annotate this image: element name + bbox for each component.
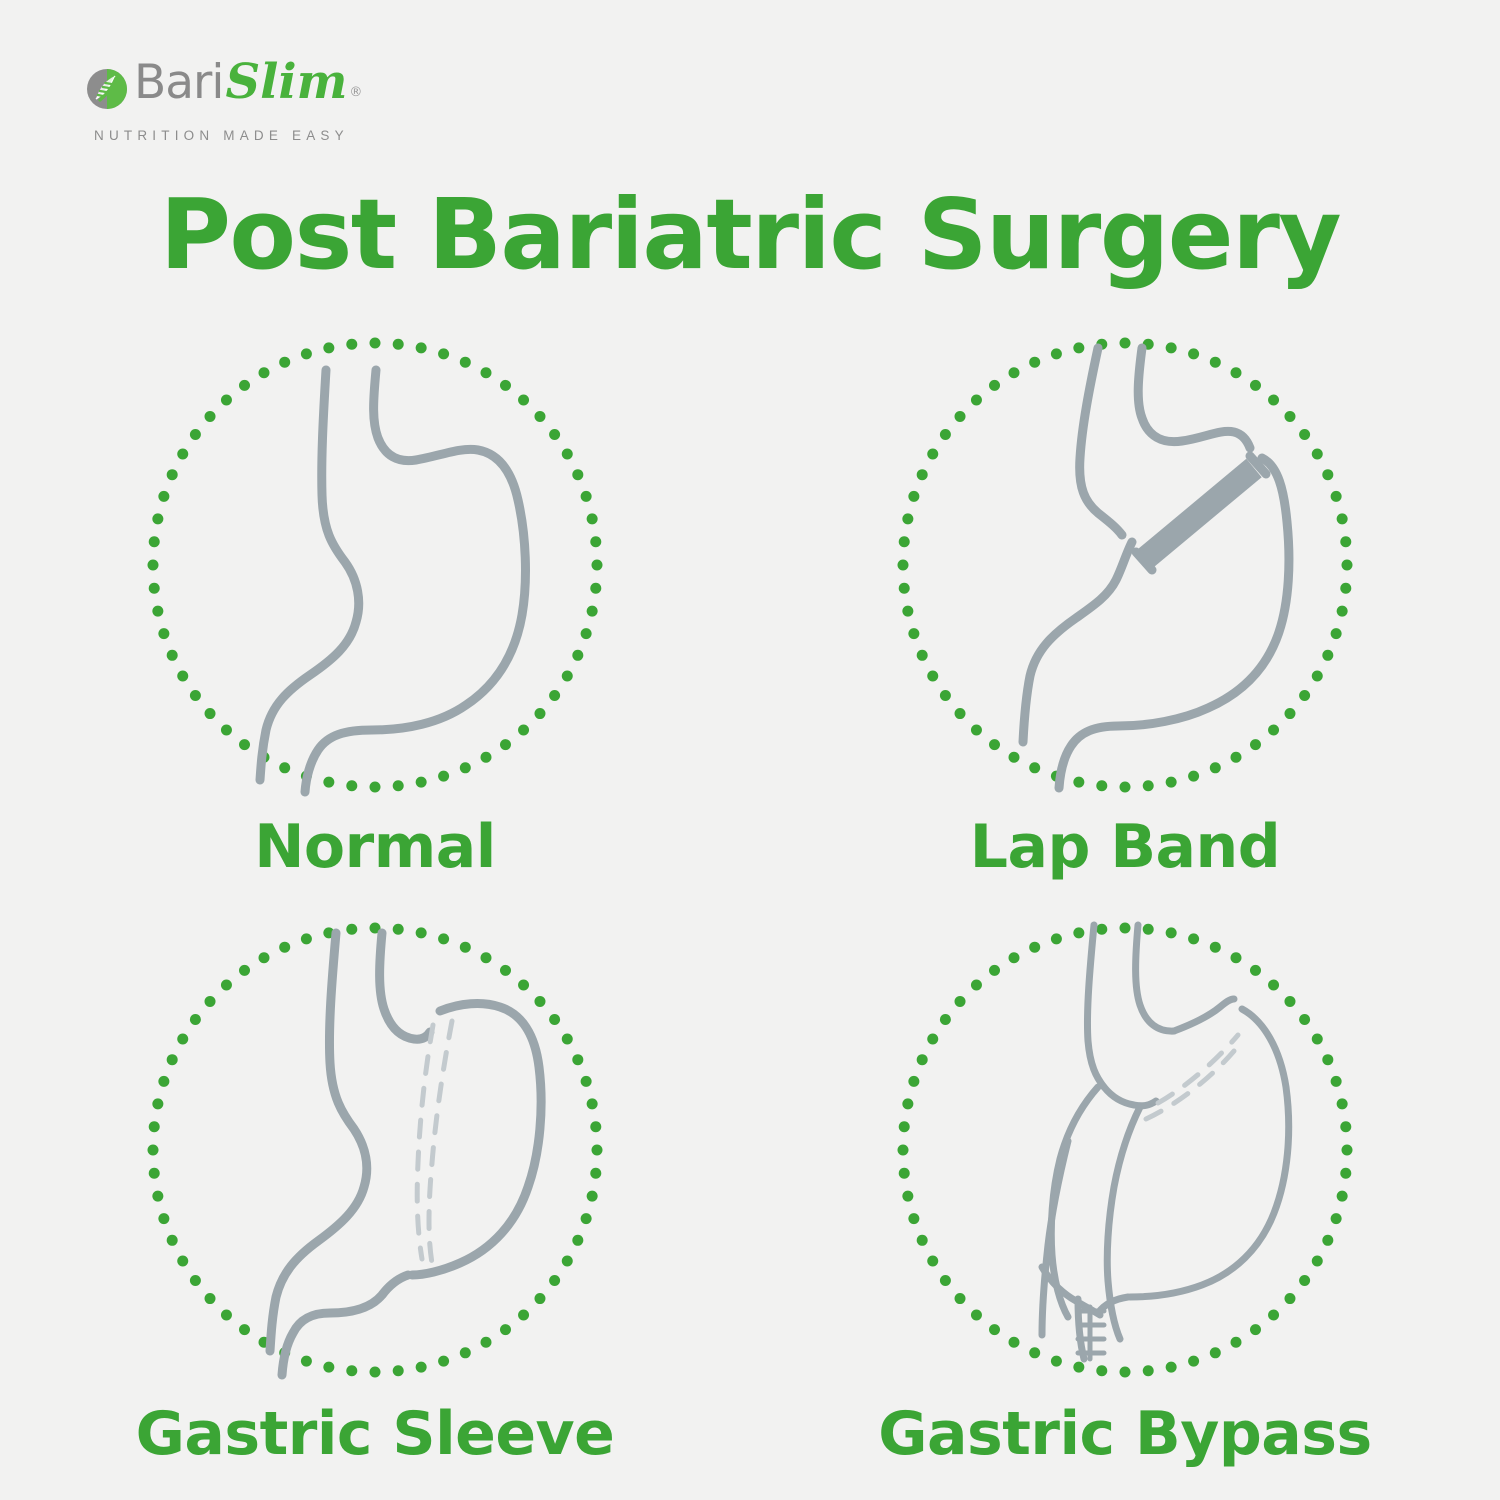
border-dot [190,1275,201,1286]
border-dot [259,952,270,963]
border-dot [1120,923,1131,934]
border-dot [1143,1365,1154,1376]
surgery-panel-grid: Normal Lap Band [0,330,1500,1500]
border-dot [908,628,919,639]
border-dot [1029,357,1040,368]
border-dot [323,1362,334,1373]
border-dot [1210,357,1221,368]
border-dot [1051,348,1062,359]
border-dot [908,491,919,502]
border-dot [587,513,598,524]
border-dot [279,942,290,953]
logo-text-slim: Slim [225,58,347,106]
border-dot [1312,1034,1323,1045]
border-dot [149,1121,160,1132]
border-dot [279,357,290,368]
border-dot [460,357,471,368]
border-dot [1284,996,1295,1007]
border-dot [205,411,216,422]
border-dot [1331,628,1342,639]
border-dot [1268,395,1279,406]
border-dot [152,513,163,524]
border-dot [346,924,357,935]
leaf-circle-icon [84,66,130,112]
border-dot [1340,583,1351,594]
gastric-bypass-stomach-figure [890,915,1360,1385]
border-dot [438,771,449,782]
border-dot [587,1191,598,1202]
border-dot [221,1309,232,1320]
border-dot [393,339,404,350]
border-dot [393,780,404,791]
border-dot [148,1145,159,1156]
border-dot [549,1275,560,1286]
border-dot [205,1293,216,1304]
border-dot [1322,650,1333,661]
border-dot [927,449,938,460]
border-dot [534,411,545,422]
border-dot [177,449,188,460]
border-dot [500,1324,511,1335]
border-dot [370,782,381,793]
border-dot [346,339,357,350]
gastric-sleeve-stomach-figure [140,915,610,1385]
border-dot [899,1168,910,1179]
border-dot [581,1076,592,1087]
border-dot [167,1054,178,1065]
border-dot [416,342,427,353]
border-dot [460,762,471,773]
border-dot [989,965,1000,976]
border-dot [1143,924,1154,935]
border-dot [1268,724,1279,735]
border-dot [177,1256,188,1267]
border-dot [416,927,427,938]
border-dot [1250,965,1261,976]
border-dot [177,671,188,682]
border-dot [898,560,909,571]
border-dot [190,690,201,701]
border-dot [1312,1256,1323,1267]
border-dot [1096,1365,1107,1376]
border-dot [149,536,160,547]
border-dot [940,690,951,701]
border-dot [971,980,982,991]
border-dot [1188,933,1199,944]
border-dot [500,739,511,750]
border-dot [393,1365,404,1376]
border-dot [1284,411,1295,422]
border-dot [989,1324,1000,1335]
border-dot [158,628,169,639]
border-dot [1009,1337,1020,1348]
border-dot [190,1014,201,1025]
border-dot [562,449,573,460]
border-dot [927,1034,938,1045]
border-dot [221,724,232,735]
border-dot [940,429,951,440]
border-dot [534,708,545,719]
panel-normal: Normal [0,330,750,915]
gastric-bypass-stomach-icon [890,915,1360,1385]
border-dot [221,980,232,991]
border-dot [518,980,529,991]
border-dot [1009,952,1020,963]
border-dot [940,1014,951,1025]
border-dot [481,1337,492,1348]
border-dot [158,491,169,502]
border-dot [1188,1356,1199,1367]
gastric-sleeve-stomach-icon [140,915,610,1385]
border-dot [239,965,250,976]
border-dot [989,739,1000,750]
border-dot [1250,739,1261,750]
border-dot [955,411,966,422]
border-dot [438,348,449,359]
border-dot [259,367,270,378]
border-dot [1322,469,1333,480]
border-dot [1322,1235,1333,1246]
border-dot [500,965,511,976]
border-dot [481,367,492,378]
logo-text-bari: Bari [134,59,223,106]
normal-stomach-icon [140,330,610,800]
border-dot [1051,1356,1062,1367]
border-dot [590,583,601,594]
border-dot [1120,782,1131,793]
border-dot [518,724,529,735]
border-dot [1166,927,1177,938]
border-dot [917,1235,928,1246]
border-dot [167,469,178,480]
border-dot [205,708,216,719]
border-dot [1096,924,1107,935]
border-dot [1073,927,1084,938]
border-dot [393,924,404,935]
border-dot [899,583,910,594]
border-dot [1166,777,1177,788]
border-dot [1312,449,1323,460]
border-dot [971,395,982,406]
border-dot [590,536,601,547]
border-dot [301,348,312,359]
border-dot [1096,780,1107,791]
border-dot [1340,1168,1351,1179]
border-dot [1342,1145,1353,1156]
border-dot [898,1145,909,1156]
lap-band-stomach-figure [890,330,1360,800]
border-dot [221,395,232,406]
border-dot [581,1213,592,1224]
border-dot [1188,771,1199,782]
border-dot [1231,952,1242,963]
border-dot [1250,380,1261,391]
border-dot [927,1256,938,1267]
border-dot [940,1275,951,1286]
border-dot [572,1054,583,1065]
border-dot [902,1191,913,1202]
border-dot [1231,1337,1242,1348]
border-dot [902,606,913,617]
border-dot [572,469,583,480]
panel-gastric-sleeve: Gastric Sleeve [0,915,750,1500]
border-dot [1120,338,1131,349]
border-dot [239,1324,250,1335]
border-dot [971,724,982,735]
border-dot [1284,708,1295,719]
border-dot [239,739,250,750]
border-dot [592,1145,603,1156]
border-dot [1231,367,1242,378]
border-dot [1337,1098,1348,1109]
border-dot [346,1365,357,1376]
border-dot [562,1034,573,1045]
border-dot [279,762,290,773]
border-dot [917,1054,928,1065]
border-dot [1322,1054,1333,1065]
border-dot [205,996,216,1007]
border-dot [549,429,560,440]
brand-logo: Bari Slim ® NUTRITION MADE EASY [84,58,504,154]
border-dot [152,1191,163,1202]
border-dot [1029,1347,1040,1358]
border-dot [1312,671,1323,682]
border-dot [572,1235,583,1246]
border-dot [899,536,910,547]
border-dot [239,380,250,391]
border-dot [955,996,966,1007]
border-dot [1250,1324,1261,1335]
border-dot [581,491,592,502]
border-dot [1143,780,1154,791]
border-dot [1284,1293,1295,1304]
border-dot [1210,942,1221,953]
border-dot [1337,513,1348,524]
border-dot [323,777,334,788]
border-dot [148,560,159,571]
border-dot [562,1256,573,1267]
border-dot [1210,1347,1221,1358]
border-dot [1029,762,1040,773]
brand-tagline: NUTRITION MADE EASY [94,128,504,143]
border-dot [190,429,201,440]
border-dot [581,628,592,639]
logo-row: Bari Slim ® [84,58,504,120]
panel-label-gastric-sleeve: Gastric Sleeve [136,1399,615,1469]
border-dot [1073,1362,1084,1373]
border-dot [1299,690,1310,701]
border-dot [989,380,1000,391]
border-dot [587,606,598,617]
border-dot [955,708,966,719]
border-dot [927,671,938,682]
border-dot [167,1235,178,1246]
border-dot [1299,429,1310,440]
border-dot [1340,536,1351,547]
registered-mark: ® [349,85,362,100]
border-dot [971,1309,982,1320]
border-dot [323,342,334,353]
border-dot [370,338,381,349]
border-dot [158,1213,169,1224]
border-dot [955,1293,966,1304]
border-dot [518,395,529,406]
border-dot [370,1367,381,1378]
border-dot [149,1168,160,1179]
panel-label-normal: Normal [254,812,496,882]
border-dot [149,583,160,594]
border-dot [1073,777,1084,788]
border-dot [152,1098,163,1109]
border-dot [481,752,492,763]
border-dot [1166,1362,1177,1373]
border-dot [534,1293,545,1304]
border-dot [152,606,163,617]
border-dot [1051,933,1062,944]
border-dot [1166,342,1177,353]
border-dot [460,942,471,953]
border-dot [587,1098,598,1109]
border-dot [1210,762,1221,773]
border-dot [1331,1213,1342,1224]
border-dot [500,380,511,391]
border-dot [562,671,573,682]
border-dot [549,690,560,701]
border-dot [592,560,603,571]
border-dot [1299,1275,1310,1286]
border-dot [1029,942,1040,953]
border-dot [1337,1191,1348,1202]
panel-lap-band: Lap Band [750,330,1500,915]
border-dot [301,1356,312,1367]
border-dot [1188,348,1199,359]
border-dot [301,933,312,944]
lap-band-stomach-icon [890,330,1360,800]
border-dot [438,933,449,944]
border-dot [460,1347,471,1358]
border-dot [590,1121,601,1132]
border-dot [438,1356,449,1367]
border-dot [518,1309,529,1320]
border-dot [590,1168,601,1179]
border-dot [549,1014,560,1025]
border-dot [1231,752,1242,763]
border-dot [534,996,545,1007]
border-dot [158,1076,169,1087]
normal-stomach-figure [140,330,610,800]
border-dot [416,1362,427,1373]
border-dot [1299,1014,1310,1025]
border-dot [1331,1076,1342,1087]
border-dot [346,780,357,791]
panel-gastric-bypass: Gastric Bypass [750,915,1500,1500]
border-dot [902,1098,913,1109]
panel-label-gastric-bypass: Gastric Bypass [878,1399,1371,1469]
border-dot [1268,980,1279,991]
border-dot [902,513,913,524]
border-dot [1120,1367,1131,1378]
border-dot [1009,367,1020,378]
page-title: Post Bariatric Surgery [0,178,1500,291]
border-dot [481,952,492,963]
border-dot [899,1121,910,1132]
border-dot [1340,1121,1351,1132]
border-dot [167,650,178,661]
border-dot [1073,342,1084,353]
border-dot [917,469,928,480]
logo-wordmark: Bari Slim ® [134,58,362,120]
border-dot [416,777,427,788]
border-dot [1331,491,1342,502]
border-dot [908,1076,919,1087]
panel-label-lap-band: Lap Band [970,812,1280,882]
border-dot [917,650,928,661]
border-dot [908,1213,919,1224]
border-dot [572,650,583,661]
border-dot [1342,560,1353,571]
border-dot [1337,606,1348,617]
border-dot [1009,752,1020,763]
border-dot [1268,1309,1279,1320]
border-dot [177,1034,188,1045]
